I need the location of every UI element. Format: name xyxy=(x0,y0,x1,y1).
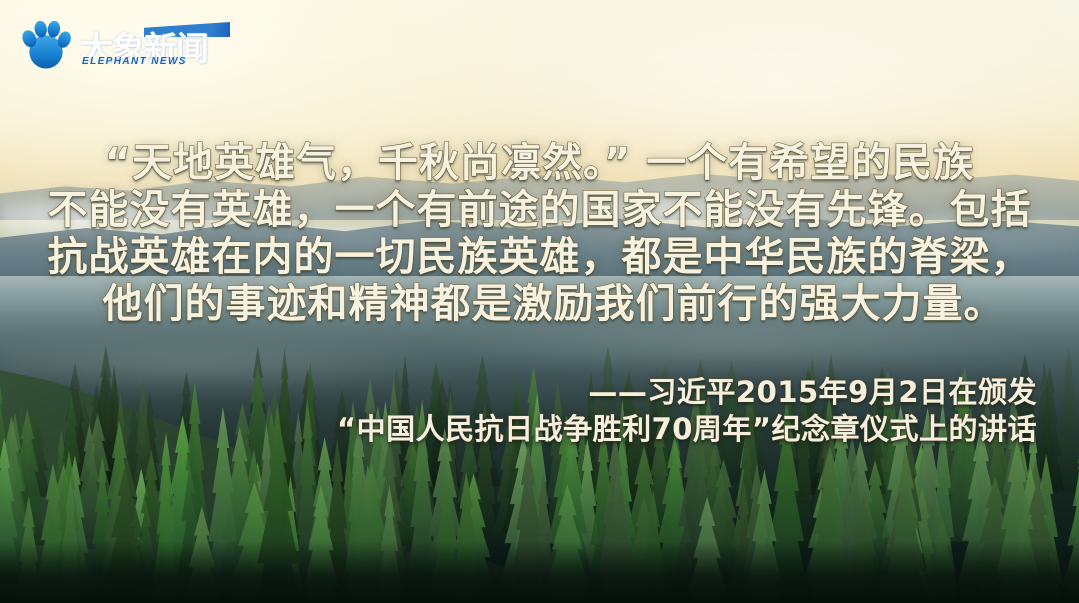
quote-line-1: “天地英雄气，千秋尚凛然。” 一个有希望的民族 xyxy=(34,140,1045,187)
elephant-paw-logo-icon xyxy=(18,16,74,72)
attribution-line-2: “中国人民抗日战争胜利70周年”纪念章仪式上的讲话 xyxy=(0,411,1037,448)
brand-wordmark: 大象新闻 ELEPHANT NEWS xyxy=(80,16,230,72)
news-quote-poster: 大象新闻 ELEPHANT NEWS “天地英雄气，千秋尚凛然。” 一个有希望的… xyxy=(0,0,1079,603)
brand-name-en: ELEPHANT NEWS xyxy=(82,56,187,67)
attribution-block: ——习近平2015年9月2日在颁发 “中国人民抗日战争胜利70周年”纪念章仪式上… xyxy=(0,374,1079,448)
quote-line-3: 抗战英雄在内的一切民族英雄，都是中华民族的脊梁， xyxy=(34,234,1045,281)
quote-block: “天地英雄气，千秋尚凛然。” 一个有希望的民族 不能没有英雄，一个有前途的国家不… xyxy=(0,140,1079,328)
quote-line-2: 不能没有英雄，一个有前途的国家不能没有先锋。包括 xyxy=(34,187,1045,234)
quote-line-4: 他们的事迹和精神都是激励我们前行的强大力量。 xyxy=(34,281,1045,328)
attribution-line-1: ——习近平2015年9月2日在颁发 xyxy=(0,374,1037,411)
brand-logo[interactable]: 大象新闻 ELEPHANT NEWS xyxy=(18,16,230,72)
